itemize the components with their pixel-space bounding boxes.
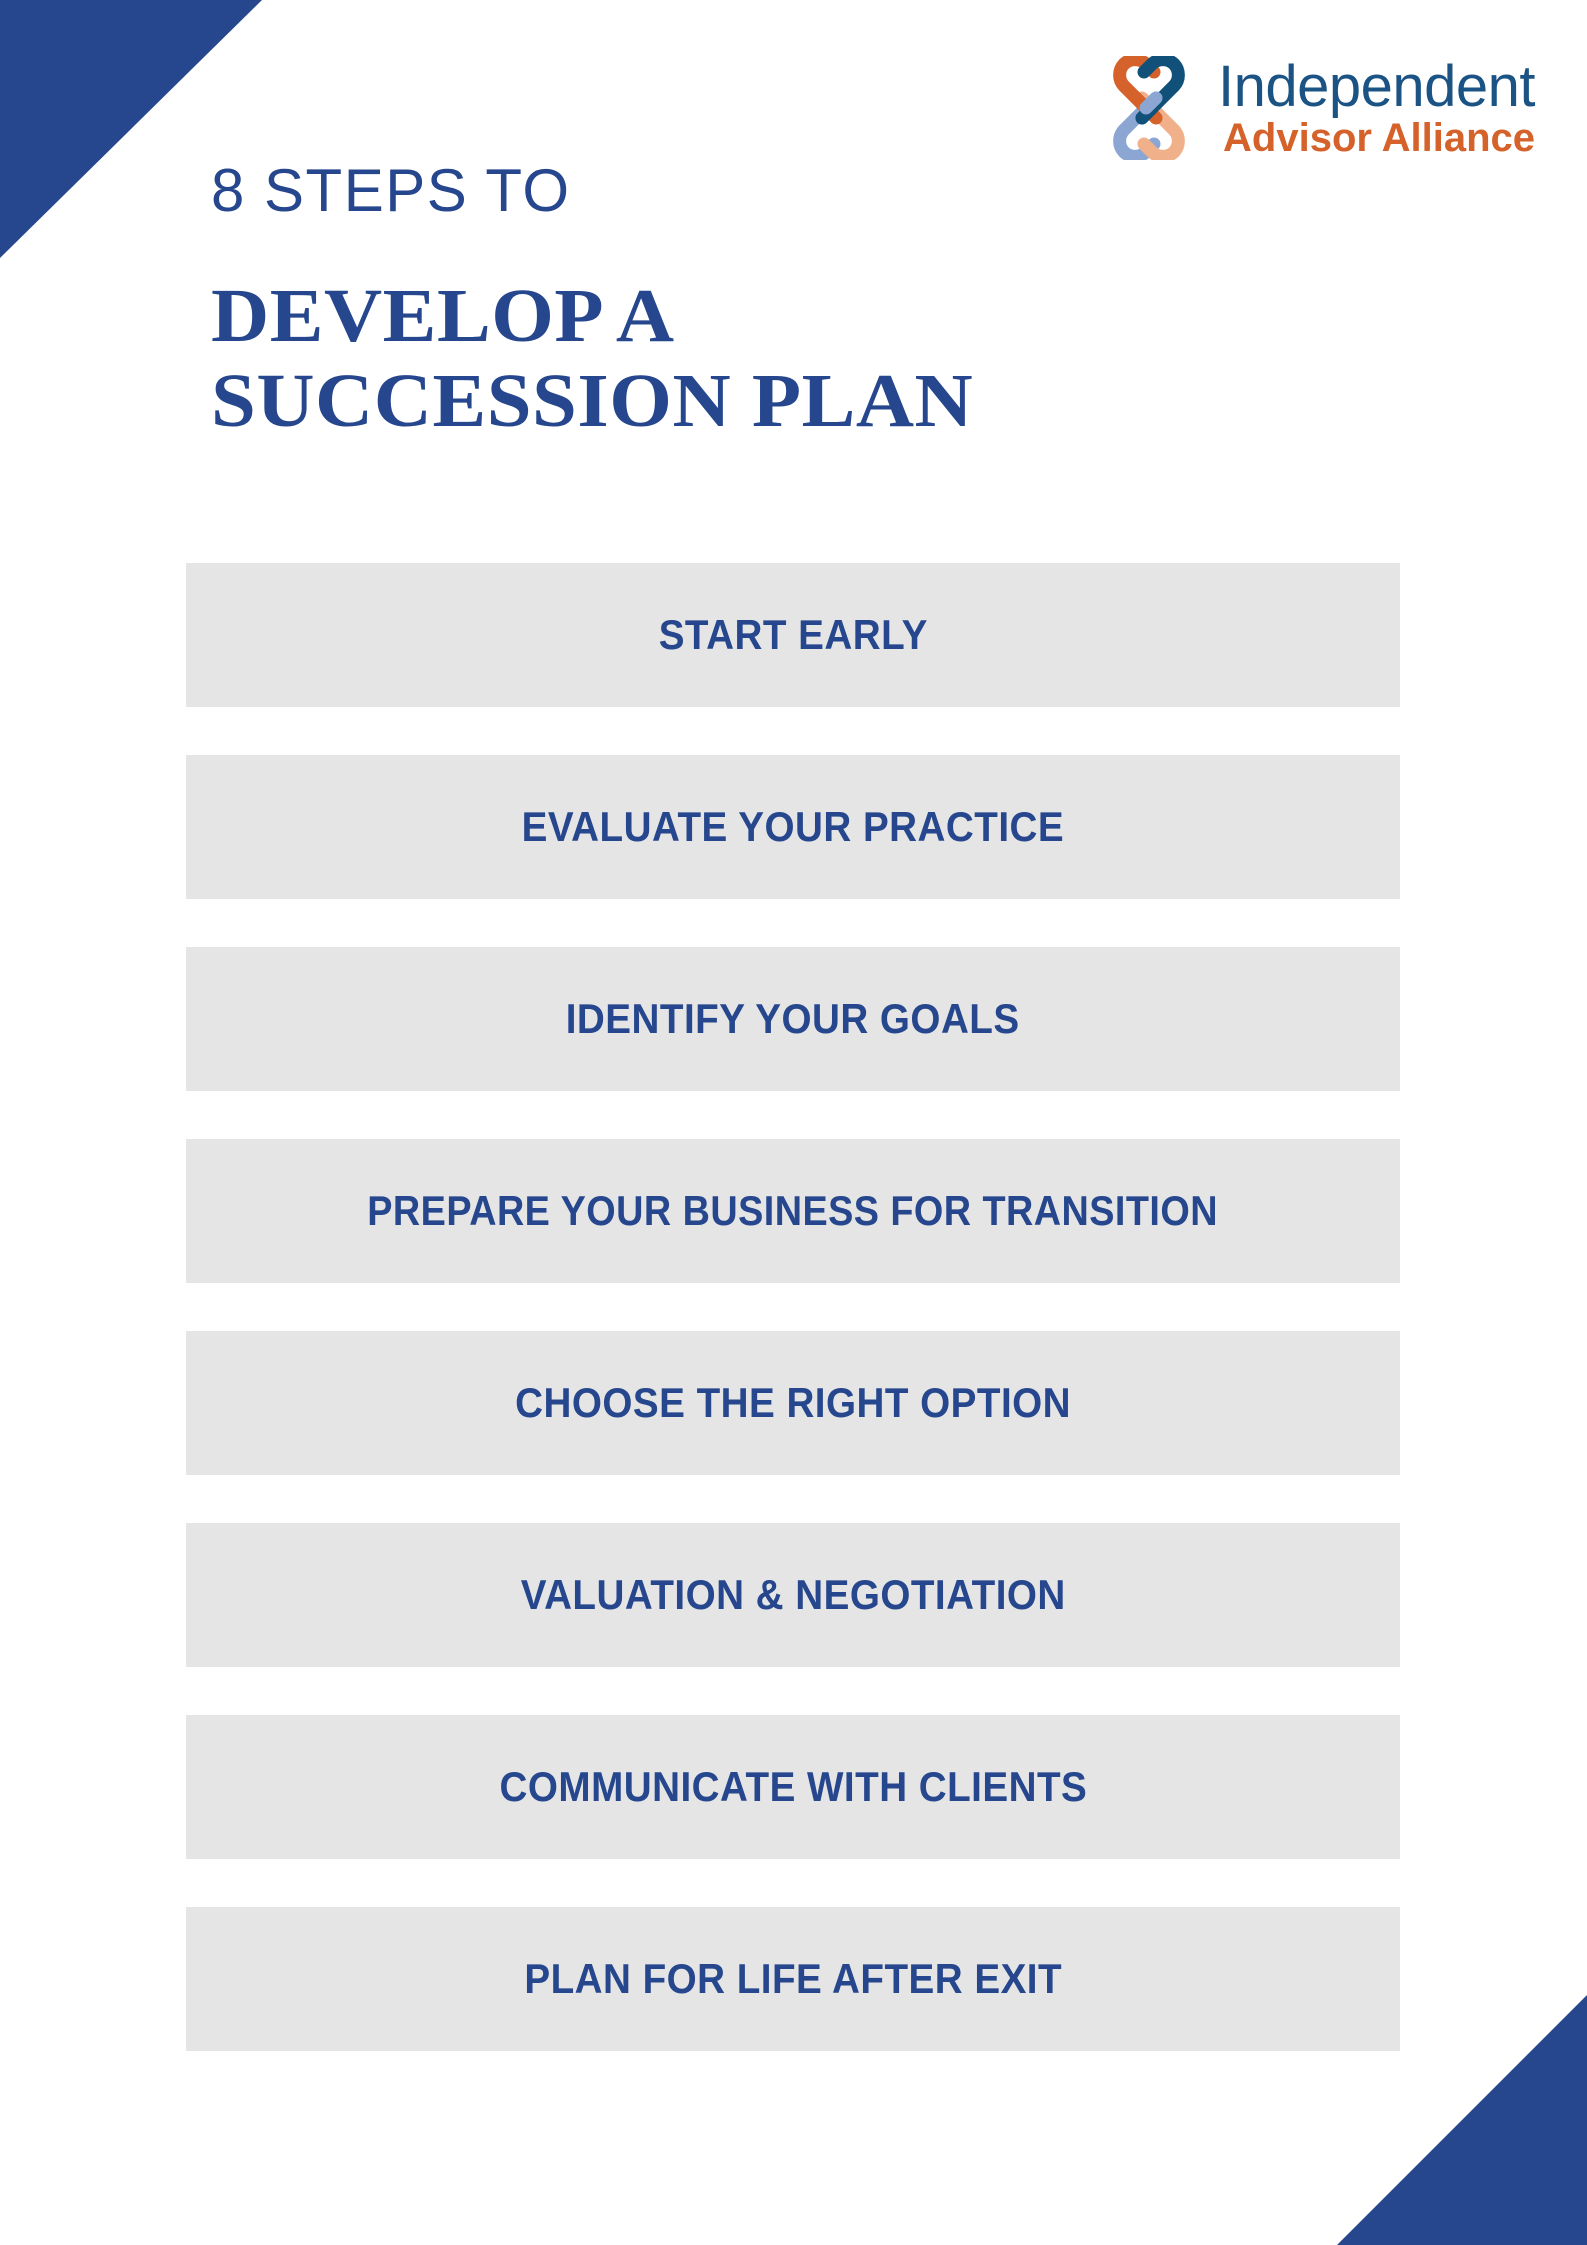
brand-logo: Independent Advisor Alliance xyxy=(1094,56,1535,160)
step-label: PREPARE YOUR BUSINESS FOR TRANSITION xyxy=(368,1187,1219,1235)
step-item[interactable]: VALUATION & NEGOTIATION xyxy=(186,1523,1400,1667)
logo-word-independent: Independent xyxy=(1218,58,1535,116)
poster-page: Independent Advisor Alliance 8 STEPS TO … xyxy=(0,0,1587,2245)
step-item[interactable]: PLAN FOR LIFE AFTER EXIT xyxy=(186,1907,1400,2051)
step-item[interactable]: IDENTIFY YOUR GOALS xyxy=(186,947,1400,1091)
step-label: COMMUNICATE WITH CLIENTS xyxy=(499,1763,1087,1811)
interlocking-knot-logo-mark-icon xyxy=(1094,56,1204,160)
steps-list: START EARLY EVALUATE YOUR PRACTICE IDENT… xyxy=(186,563,1400,2051)
step-label: PLAN FOR LIFE AFTER EXIT xyxy=(524,1955,1062,2003)
step-item[interactable]: CHOOSE THE RIGHT OPTION xyxy=(186,1331,1400,1475)
step-item[interactable]: COMMUNICATE WITH CLIENTS xyxy=(186,1715,1400,1859)
step-item[interactable]: PREPARE YOUR BUSINESS FOR TRANSITION xyxy=(186,1139,1400,1283)
step-label: IDENTIFY YOUR GOALS xyxy=(566,995,1020,1043)
page-title: DEVELOP A SUCCESSION PLAN xyxy=(211,274,973,444)
logo-word-advisor-alliance: Advisor Alliance xyxy=(1223,118,1535,158)
step-label: EVALUATE YOUR PRACTICE xyxy=(522,803,1065,851)
step-item[interactable]: START EARLY xyxy=(186,563,1400,707)
page-title-line-2: SUCCESSION PLAN xyxy=(211,359,973,444)
step-label: START EARLY xyxy=(658,611,927,659)
logo-wordmark: Independent Advisor Alliance xyxy=(1218,58,1535,158)
step-label: CHOOSE THE RIGHT OPTION xyxy=(515,1379,1071,1427)
eyebrow-heading: 8 STEPS TO xyxy=(211,161,571,221)
step-label: VALUATION & NEGOTIATION xyxy=(520,1571,1065,1619)
step-item[interactable]: EVALUATE YOUR PRACTICE xyxy=(186,755,1400,899)
page-title-line-1: DEVELOP A xyxy=(211,274,973,359)
